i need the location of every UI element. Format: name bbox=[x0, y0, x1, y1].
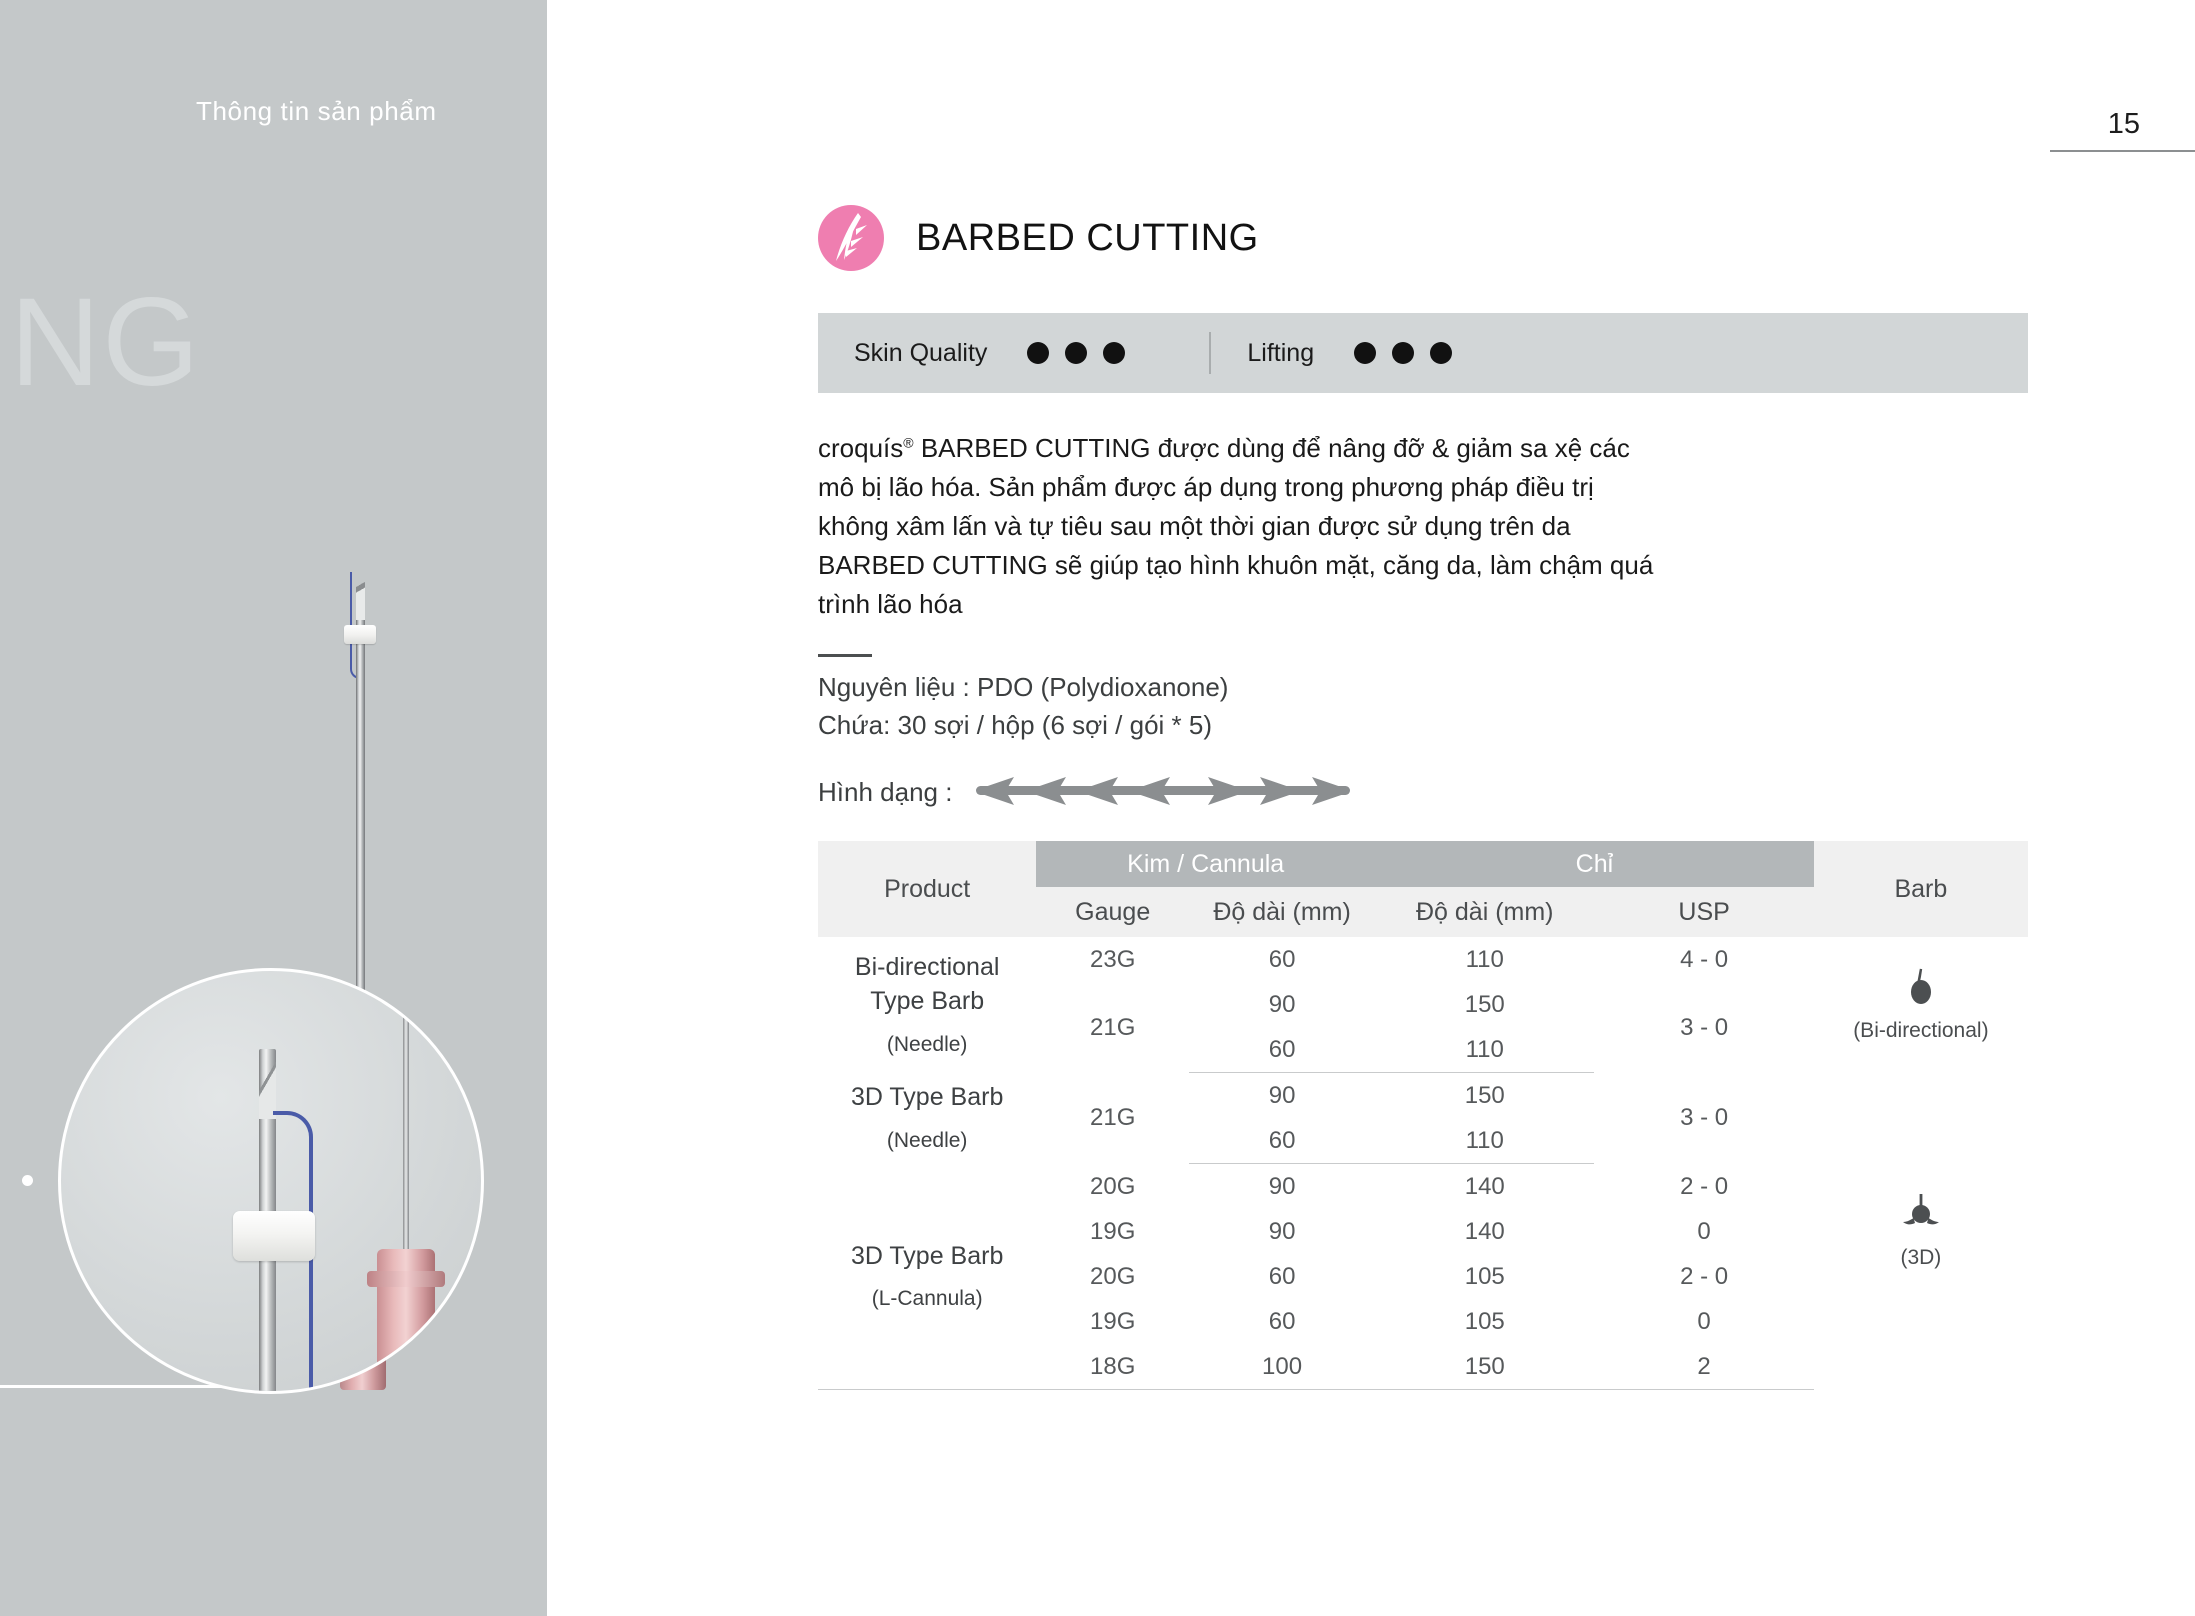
cell-usp: 3 - 0 bbox=[1594, 1073, 1813, 1164]
cell-needle-length: 90 bbox=[1189, 1073, 1375, 1119]
cell-thread-length: 150 bbox=[1375, 982, 1594, 1027]
barb-cell-bi-directional: (Bi-directional) bbox=[1814, 937, 2028, 1073]
watermark-text: NG bbox=[10, 280, 202, 405]
cell-gauge: 18G bbox=[1036, 1344, 1189, 1390]
cell-thread-length: 110 bbox=[1375, 1118, 1594, 1164]
cell-usp: 4 - 0 bbox=[1594, 937, 1813, 982]
th-product: Product bbox=[818, 841, 1036, 937]
rating-dots-lifting bbox=[1354, 342, 1468, 364]
th-barb: Barb bbox=[1814, 841, 2028, 937]
table-head: Product Kim / Cannula Chỉ Barb Gauge Độ … bbox=[818, 841, 2028, 937]
needle-detail-magnifier bbox=[58, 968, 484, 1394]
brand-name: croquís® bbox=[818, 433, 914, 463]
cell-needle-length: 60 bbox=[1189, 1299, 1375, 1344]
zoom-hub-collar bbox=[367, 1271, 445, 1287]
magnifier-anchor-dot bbox=[22, 1175, 33, 1186]
cell-thread-length: 110 bbox=[1375, 1027, 1594, 1073]
shape-row: Hình dạng : bbox=[818, 770, 2028, 815]
rating-dot bbox=[1027, 342, 1049, 364]
th-usp: USP bbox=[1594, 887, 1813, 937]
barb-caption: (Bi-directional) bbox=[1815, 1019, 2027, 1043]
barb-caption: (3D) bbox=[1815, 1246, 2027, 1270]
product-sub-line: (L-Cannula) bbox=[819, 1285, 1035, 1313]
needle-foam-collar bbox=[344, 625, 376, 644]
rating-dot bbox=[1392, 342, 1414, 364]
cell-thread-length: 140 bbox=[1375, 1164, 1594, 1210]
page-title: BARBED CUTTING bbox=[916, 217, 1259, 260]
rating-lifting: Lifting bbox=[1247, 339, 1468, 368]
section-label: Thông tin sản phẩm bbox=[196, 96, 437, 127]
product-name-line1: Bi-directional bbox=[819, 951, 1035, 985]
rating-label-skin-quality: Skin Quality bbox=[854, 339, 987, 368]
registered-mark: ® bbox=[903, 434, 913, 450]
cell-usp: 0 bbox=[1594, 1209, 1813, 1254]
table-body: Bi-directional Type Barb (Needle) 23G 60… bbox=[818, 937, 2028, 1390]
rating-dot bbox=[1354, 342, 1376, 364]
rating-divider bbox=[1209, 332, 1211, 374]
cell-gauge: 19G bbox=[1036, 1299, 1189, 1344]
cell-gauge: 21G bbox=[1036, 982, 1189, 1073]
cell-gauge: 19G bbox=[1036, 1209, 1189, 1254]
cell-needle-length: 60 bbox=[1189, 937, 1375, 982]
main-content: BARBED CUTTING Skin Quality Lifting croq… bbox=[818, 0, 2028, 1390]
left-image-panel: Thông tin sản phẩm NG bbox=[0, 0, 547, 1616]
shape-label: Hình dạng : bbox=[818, 777, 952, 808]
cell-thread-length: 110 bbox=[1375, 937, 1594, 982]
cell-usp: 2 bbox=[1594, 1344, 1813, 1390]
th-needle-group: Kim / Cannula bbox=[1036, 841, 1375, 887]
cell-thread-length: 140 bbox=[1375, 1209, 1594, 1254]
bi-directional-barbed-thread-icon bbox=[968, 770, 1358, 815]
brand-name-text: croquís bbox=[818, 433, 903, 463]
cell-gauge: 20G bbox=[1036, 1164, 1189, 1210]
rating-bar: Skin Quality Lifting bbox=[818, 313, 2028, 393]
spec-contents: Chứa: 30 sợi / hộp (6 sợi / gói * 5) bbox=[818, 707, 2028, 745]
rating-dots-skin-quality bbox=[1027, 342, 1141, 364]
cell-thread-length: 105 bbox=[1375, 1299, 1594, 1344]
th-gauge: Gauge bbox=[1036, 887, 1189, 937]
zoom-hub-needle bbox=[403, 971, 409, 1253]
page-number-rule bbox=[2050, 150, 2195, 152]
spec-material: Nguyên liệu : PDO (Polydioxanone) bbox=[818, 669, 2028, 707]
cell-needle-length: 90 bbox=[1189, 982, 1375, 1027]
page-number: 15 bbox=[2108, 108, 2140, 141]
cell-needle-length: 100 bbox=[1189, 1344, 1375, 1390]
cell-usp: 3 - 0 bbox=[1594, 982, 1813, 1073]
cell-needle-length: 90 bbox=[1189, 1209, 1375, 1254]
product-title-row: BARBED CUTTING bbox=[818, 205, 2028, 271]
th-thread-group: Chỉ bbox=[1375, 841, 1814, 887]
page-number-value: 15 bbox=[2108, 108, 2140, 140]
three-d-barb-icon bbox=[1815, 1192, 2027, 1240]
cell-gauge: 20G bbox=[1036, 1254, 1189, 1299]
product-name-line2: Type Barb bbox=[819, 985, 1035, 1019]
cell-usp: 0 bbox=[1594, 1299, 1813, 1344]
croquis-logo-icon bbox=[818, 205, 884, 271]
cell-needle-length: 60 bbox=[1189, 1027, 1375, 1073]
cell-thread-length: 150 bbox=[1375, 1344, 1594, 1390]
specification-table: Product Kim / Cannula Chỉ Barb Gauge Độ … bbox=[818, 841, 2028, 1390]
product-name-line1: 3D Type Barb bbox=[819, 1240, 1035, 1274]
product-sub-line: (Needle) bbox=[819, 1127, 1035, 1155]
product-cell-bi-directional: Bi-directional Type Barb (Needle) bbox=[818, 937, 1036, 1073]
table-header-top-row: Product Kim / Cannula Chỉ Barb bbox=[818, 841, 2028, 887]
zoom-needle-bevel bbox=[259, 1049, 276, 1119]
cell-needle-length: 60 bbox=[1189, 1118, 1375, 1164]
cell-gauge: 21G bbox=[1036, 1073, 1189, 1164]
cell-gauge: 23G bbox=[1036, 937, 1189, 982]
cell-needle-length: 90 bbox=[1189, 1164, 1375, 1210]
product-sub-line: (Needle) bbox=[819, 1031, 1035, 1059]
rating-label-lifting: Lifting bbox=[1247, 339, 1314, 368]
cell-usp: 2 - 0 bbox=[1594, 1164, 1813, 1210]
cell-usp: 2 - 0 bbox=[1594, 1254, 1813, 1299]
table-row: Bi-directional Type Barb (Needle) 23G 60… bbox=[818, 937, 2028, 982]
product-cell-3d-needle: 3D Type Barb (Needle) bbox=[818, 1073, 1036, 1164]
specs-block: Nguyên liệu : PDO (Polydioxanone) Chứa: … bbox=[818, 669, 2028, 744]
th-thread-length: Độ dài (mm) bbox=[1375, 887, 1594, 937]
rating-dot bbox=[1065, 342, 1087, 364]
bi-directional-barb-icon bbox=[1815, 967, 2027, 1013]
rating-dot bbox=[1430, 342, 1452, 364]
section-rule bbox=[818, 654, 872, 657]
description-body: BARBED CUTTING được dùng để nâng đỡ & gi… bbox=[818, 433, 1653, 619]
cell-needle-length: 60 bbox=[1189, 1254, 1375, 1299]
product-description: croquís® BARBED CUTTING được dùng để nân… bbox=[818, 429, 2028, 624]
table-row: 3D Type Barb (Needle) 21G 90 150 3 - 0 bbox=[818, 1073, 2028, 1119]
th-needle-length: Độ dài (mm) bbox=[1189, 887, 1375, 937]
rating-dot bbox=[1103, 342, 1125, 364]
cell-thread-length: 105 bbox=[1375, 1254, 1594, 1299]
zoom-foam-collar bbox=[233, 1211, 315, 1261]
rating-skin-quality: Skin Quality bbox=[854, 339, 1141, 368]
barb-cell-3d: (3D) bbox=[1814, 1073, 2028, 1390]
cell-thread-length: 150 bbox=[1375, 1073, 1594, 1119]
product-name-line1: 3D Type Barb bbox=[819, 1081, 1035, 1115]
product-cell-3d-cannula: 3D Type Barb (L-Cannula) bbox=[818, 1164, 1036, 1390]
